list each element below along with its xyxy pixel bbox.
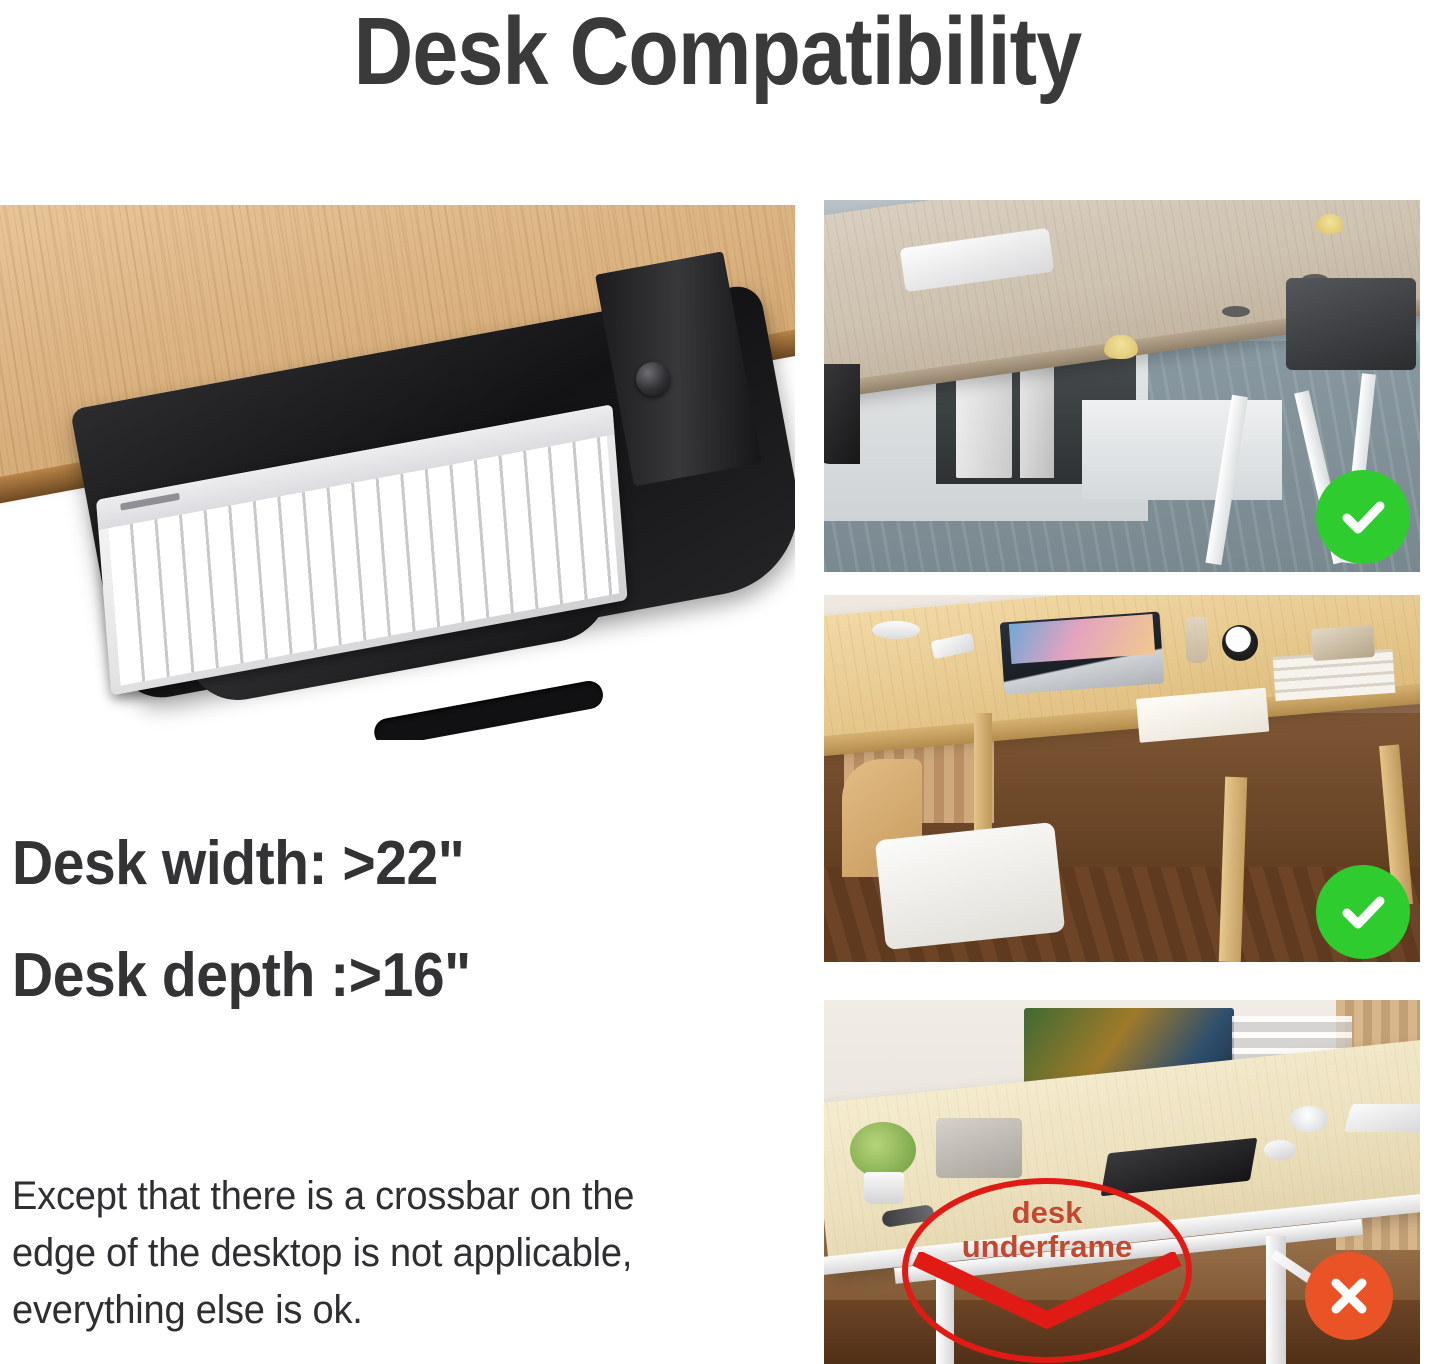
mini-pc bbox=[936, 1118, 1022, 1178]
charging-pad bbox=[872, 621, 920, 639]
infographic-page: Desk Compatibility Desk width: >22" Desk… bbox=[0, 0, 1435, 1364]
chair-seat bbox=[875, 822, 1066, 950]
vase bbox=[1186, 617, 1208, 663]
hero-product-photo bbox=[0, 205, 795, 740]
status-badge-not-compatible bbox=[1305, 1252, 1393, 1340]
pc-tower-secondary bbox=[1020, 366, 1054, 478]
underframe-label-line2: underframe bbox=[962, 1229, 1133, 1264]
spec-desk-depth: Desk depth :>16" bbox=[12, 940, 471, 1011]
status-badge-compatible bbox=[1316, 470, 1410, 564]
secondary-keyboard bbox=[1344, 1104, 1420, 1132]
modesty-panel bbox=[1082, 400, 1282, 500]
page-title: Desk Compatibility bbox=[100, 2, 1334, 103]
underframe-label: desk underframe bbox=[902, 1196, 1192, 1264]
check-icon bbox=[1335, 884, 1391, 940]
compatibility-note: Except that there is a crossbar on the e… bbox=[12, 1168, 706, 1338]
status-badge-compatible bbox=[1316, 865, 1410, 959]
cable-grommet-icon bbox=[1222, 306, 1250, 317]
potted-plant bbox=[850, 1122, 916, 1178]
office-chair bbox=[824, 364, 860, 464]
speaker bbox=[1311, 625, 1375, 661]
office-chair bbox=[1286, 278, 1416, 370]
cup bbox=[1290, 1106, 1328, 1132]
wrist-rest-slot bbox=[372, 679, 605, 740]
check-icon bbox=[1335, 489, 1391, 545]
mouse bbox=[1264, 1140, 1296, 1160]
underframe-label-line1: desk bbox=[1012, 1195, 1083, 1230]
tray-adjust-knob-icon bbox=[636, 362, 670, 396]
spec-desk-width: Desk width: >22" bbox=[12, 828, 464, 899]
coffee-cup bbox=[1316, 214, 1344, 234]
plant-pot bbox=[864, 1172, 904, 1204]
alarm-clock-icon bbox=[1222, 625, 1258, 661]
coffee-cup bbox=[1104, 335, 1138, 359]
cross-icon bbox=[1323, 1270, 1375, 1322]
